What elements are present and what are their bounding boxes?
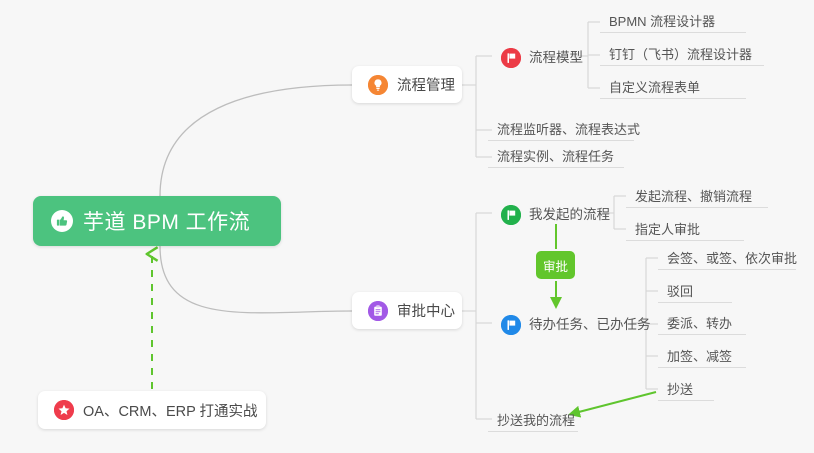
star-icon [54, 400, 74, 420]
leaf-cc-to-me-flows-label: 抄送我的流程 [497, 414, 575, 427]
thumbs-up-icon [51, 210, 73, 232]
node-process-model[interactable]: 流程模型 [492, 44, 592, 73]
leaf-dingtalk-feishu-designer[interactable]: 钉钉（飞书）流程设计器 [600, 44, 764, 66]
flag-icon [501, 48, 521, 68]
footnote-node-label: OA、CRM、ERP 打通实战 [83, 400, 258, 421]
link-approval-spine [462, 213, 476, 419]
leaf-custom-process-form[interactable]: 自定义流程表单 [600, 77, 746, 99]
annotation-cc-link-arrow [571, 392, 656, 414]
branch-node-process-management[interactable]: 流程管理 [352, 66, 462, 103]
leaf-process-listener-expression-label: 流程监听器、流程表达式 [497, 123, 640, 136]
flag-icon [501, 205, 521, 225]
footnote-node[interactable]: OA、CRM、ERP 打通实战 [38, 391, 266, 429]
leaf-process-listener-expression[interactable]: 流程监听器、流程表达式 [488, 119, 634, 141]
lightbulb-icon [368, 75, 388, 95]
mindmap-canvas: 芋道 BPM 工作流 流程管理 流程模型 BPMN 流程设计器 钉钉（飞书 [0, 0, 814, 453]
flag-icon [501, 315, 521, 335]
link-root-to-process-mgmt [160, 85, 352, 196]
leaf-add-remove-sign-label: 加签、减签 [667, 350, 732, 363]
leaf-cc-to-me-flows[interactable]: 抄送我的流程 [488, 410, 578, 432]
leaf-assignee-approval[interactable]: 指定人审批 [626, 219, 744, 241]
leaf-custom-process-form-label: 自定义流程表单 [609, 81, 700, 94]
branch-node-process-management-label: 流程管理 [397, 74, 455, 95]
leaf-process-instance-task-label: 流程实例、流程任务 [497, 150, 614, 163]
approval-badge: 审批 [536, 251, 575, 279]
leaf-cc-label: 抄送 [667, 383, 693, 396]
leaf-reject-label: 驳回 [667, 285, 693, 298]
leaf-delegate-transfer[interactable]: 委派、转办 [658, 313, 746, 335]
leaf-dingtalk-feishu-designer-label: 钉钉（飞书）流程设计器 [609, 48, 752, 61]
node-process-model-label: 流程模型 [529, 51, 583, 65]
leaf-start-cancel-process[interactable]: 发起流程、撤销流程 [626, 186, 768, 208]
leaf-delegate-transfer-label: 委派、转办 [667, 317, 732, 330]
root-node[interactable]: 芋道 BPM 工作流 [33, 196, 281, 246]
node-todo-done-tasks[interactable]: 待办任务、已办任务 [492, 311, 660, 340]
node-my-initiated-flows[interactable]: 我发起的流程 [492, 201, 619, 230]
approval-badge-label: 审批 [543, 256, 568, 275]
branch-node-approval-center-label: 审批中心 [397, 300, 455, 321]
leaf-start-cancel-process-label: 发起流程、撤销流程 [635, 190, 752, 203]
node-my-initiated-flows-label: 我发起的流程 [529, 208, 610, 222]
leaf-cc[interactable]: 抄送 [658, 379, 714, 401]
leaf-bpmn-designer[interactable]: BPMN 流程设计器 [600, 11, 746, 33]
leaf-process-instance-task[interactable]: 流程实例、流程任务 [488, 146, 624, 168]
root-node-label: 芋道 BPM 工作流 [83, 206, 250, 236]
leaf-assignee-approval-label: 指定人审批 [635, 223, 700, 236]
leaf-reject[interactable]: 驳回 [658, 281, 732, 303]
link-process-mgmt-spine [462, 56, 476, 157]
leaf-add-remove-sign[interactable]: 加签、减签 [658, 346, 746, 368]
leaf-countersign-orsign-sequential-label: 会签、或签、依次审批 [667, 252, 797, 265]
link-root-to-approval [160, 246, 352, 313]
branch-node-approval-center[interactable]: 审批中心 [352, 292, 462, 329]
leaf-bpmn-designer-label: BPMN 流程设计器 [609, 15, 715, 28]
clipboard-icon [368, 301, 388, 321]
node-todo-done-tasks-label: 待办任务、已办任务 [529, 318, 651, 332]
leaf-countersign-orsign-sequential[interactable]: 会签、或签、依次审批 [658, 248, 796, 270]
